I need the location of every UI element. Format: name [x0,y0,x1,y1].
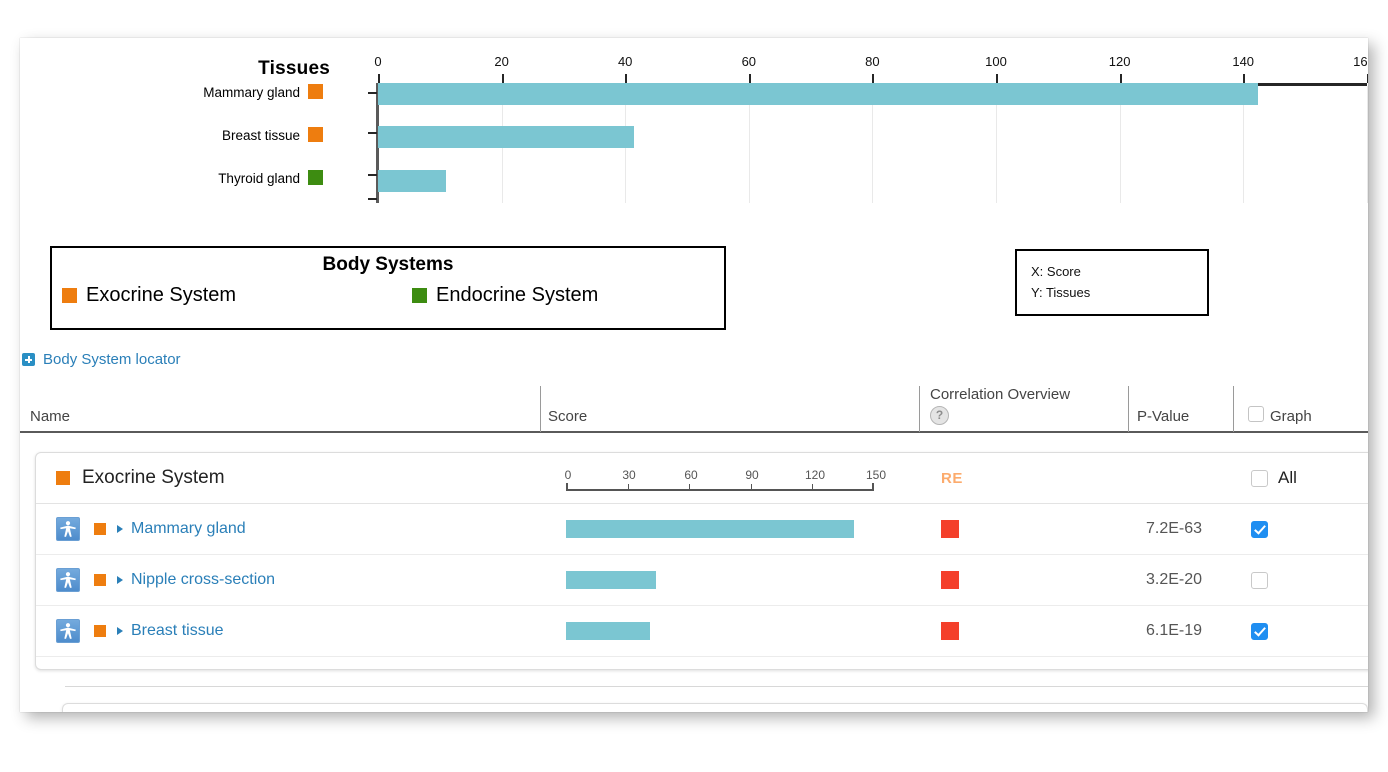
column-header-pvalue[interactable]: P-Value [1137,408,1189,425]
mini-tick-90 [751,484,752,491]
x-tick-140 [1243,74,1245,83]
header-divider-4 [1233,386,1234,432]
correlation-square[interactable] [941,520,959,538]
column-header-name[interactable]: Name [30,408,70,425]
group-name-cell: Exocrine System [56,453,225,503]
row-pvalue-cell: 7.2E-63 [1146,504,1202,554]
body-systems-legend: Body Systems Exocrine System Endocrine S… [50,246,726,330]
row-name-label[interactable]: Breast tissue [131,622,223,640]
row-name-cell: Breast tissue [56,606,223,656]
axes-info-x: X: Score [1031,261,1207,282]
legend-item-endocrine: Endocrine System [412,284,598,307]
x-tick-20 [502,74,504,83]
mini-tick-label-30: 30 [622,468,635,482]
x-tick-160 [1367,74,1368,83]
bar-thyroid-gland[interactable] [378,170,446,192]
chart-category-swatch-thyroid-gland [308,170,323,185]
header-divider-3 [1128,386,1129,432]
legend-item-exocrine: Exocrine System [62,284,412,307]
row-score-bar[interactable] [566,571,656,589]
row-graph-cell [1251,606,1268,656]
section-divider [65,686,1368,687]
row-swatch [94,574,106,586]
header-divider-2 [919,386,920,432]
body-system-locator-label: Body System locator [43,351,181,368]
row-swatch [94,625,106,637]
expand-triangle-icon[interactable] [117,576,123,584]
results-card: Exocrine System 0 30 60 90 [35,452,1368,670]
expand-triangle-icon[interactable] [117,627,123,635]
row-graph-cell [1251,555,1268,605]
row-name-label[interactable]: Nipple cross-section [131,571,275,589]
x-tick-label-40: 40 [618,54,632,69]
chart-title: Tissues [210,58,330,80]
row-score-cell [566,606,650,656]
chart-category-swatch-breast-tissue [308,127,323,142]
mini-tick-label-150: 150 [866,468,886,482]
row-score-bar[interactable] [566,622,650,640]
group-label: Exocrine System [82,467,225,489]
x-tick-40 [625,74,627,83]
row-score-bar[interactable] [566,520,854,538]
main-panel: Tissues 0 20 40 60 80 100 [20,38,1368,712]
row-name-cell: Nipple cross-section [56,555,275,605]
next-section-card [62,703,1368,712]
row-pvalue: 7.2E-63 [1146,520,1202,538]
chart-category-label-breast-tissue: Breast tissue [140,128,300,143]
x-tick-label-100: 100 [985,54,1007,69]
row-graph-checkbox[interactable] [1251,521,1268,538]
legend-swatch-exocrine [62,288,77,303]
x-tick-label-120: 120 [1109,54,1131,69]
gridline-160 [1367,86,1368,203]
y-tick-3 [368,198,377,200]
x-tick-label-0: 0 [374,54,381,69]
body-figure-icon[interactable] [56,619,80,643]
row-pvalue-cell: 3.2E-20 [1146,555,1202,605]
group-graph-cell: All [1251,453,1297,503]
legend-label-endocrine: Endocrine System [436,284,598,307]
graph-all-label: All [1278,468,1297,488]
x-tick-100 [996,74,998,83]
mini-tick-120 [812,484,813,491]
row-correlation-cell [941,504,959,554]
column-header-score[interactable]: Score [548,408,587,425]
group-row-exocrine-system[interactable]: Exocrine System 0 30 60 90 [36,453,1368,504]
x-tick-120 [1120,74,1122,83]
expand-triangle-icon[interactable] [117,525,123,533]
x-tick-label-140: 140 [1232,54,1254,69]
row-swatch [94,523,106,535]
row-score-cell [566,555,656,605]
body-figure-icon[interactable] [56,517,80,541]
x-tick-0 [378,74,380,83]
mini-tick-label-60: 60 [684,468,697,482]
table-row[interactable]: Nipple cross-section 3.2E-20 [36,555,1368,606]
mini-axis-line [566,489,874,491]
axes-info-y: Y: Tissues [1031,282,1207,303]
chart-plot-area: 0 20 40 60 80 100 120 140 [358,83,1347,203]
help-question-icon[interactable]: ? [930,406,949,425]
y-tick-0 [368,92,377,94]
header-divider-1 [540,386,541,432]
row-name-label[interactable]: Mammary gland [131,520,246,538]
mini-tick-60 [689,484,690,491]
x-tick-label-60: 60 [742,54,756,69]
row-graph-checkbox[interactable] [1251,623,1268,640]
page-root: Tissues 0 20 40 60 80 100 [0,0,1388,772]
body-system-locator-link[interactable]: Body System locator [22,351,181,368]
group-swatch [56,471,70,485]
mini-tick-label-120: 120 [805,468,825,482]
y-tick-1 [368,132,377,134]
group-score-cell: 0 30 60 90 120 150 [566,453,886,503]
x-tick-label-160: 160 [1353,54,1368,69]
mini-tick-0 [566,484,567,491]
graph-all-checkbox[interactable] [1251,470,1268,487]
chart-category-label-mammary-gland: Mammary gland [140,85,300,100]
tissues-bar-chart: Tissues 0 20 40 60 80 100 [20,38,1368,213]
x-tick-60 [749,74,751,83]
mini-tick-label-0: 0 [565,468,572,482]
x-tick-80 [872,74,874,83]
table-header: Name Score Correlation Overview ? P-Valu… [20,378,1368,433]
row-correlation-cell [941,606,959,656]
mini-tick-30 [628,484,629,491]
body-figure-icon[interactable] [56,568,80,592]
mini-axis-cap-right [872,483,874,491]
table-row[interactable]: Mammary gland 7.2E-63 [36,504,1368,555]
x-tick-label-80: 80 [865,54,879,69]
bar-breast-tissue[interactable] [378,126,634,148]
x-tick-label-20: 20 [494,54,508,69]
legend-swatch-endocrine [412,288,427,303]
plus-expand-icon[interactable] [22,353,35,366]
graph-header-checkbox[interactable] [1248,406,1264,422]
axes-info-box: X: Score Y: Tissues [1015,249,1209,316]
legend-label-exocrine: Exocrine System [86,284,236,307]
score-mini-axis: 0 30 60 90 120 150 [566,465,886,491]
group-correlation-cell: RE [941,453,963,503]
correlation-re-label: RE [941,470,963,487]
row-pvalue: 3.2E-20 [1146,571,1202,589]
row-pvalue-cell: 6.1E-19 [1146,606,1202,656]
legend-heading: Body Systems [52,254,724,276]
row-graph-checkbox[interactable] [1251,572,1268,589]
row-correlation-cell [941,555,959,605]
correlation-square[interactable] [941,571,959,589]
row-score-cell [566,504,854,554]
chart-category-label-thyroid-gland: Thyroid gland [140,171,300,186]
bar-mammary-gland[interactable] [378,83,1258,105]
chart-category-swatch-mammary-gland [308,84,323,99]
row-name-cell: Mammary gland [56,504,246,554]
y-tick-2 [368,174,377,176]
column-header-correlation-overview[interactable]: Correlation Overview [930,386,1070,403]
correlation-square[interactable] [941,622,959,640]
mini-tick-label-90: 90 [745,468,758,482]
row-pvalue: 6.1E-19 [1146,622,1202,640]
column-header-graph[interactable]: Graph [1270,408,1312,425]
row-graph-cell [1251,504,1268,554]
table-row[interactable]: Breast tissue 6.1E-19 [36,606,1368,657]
